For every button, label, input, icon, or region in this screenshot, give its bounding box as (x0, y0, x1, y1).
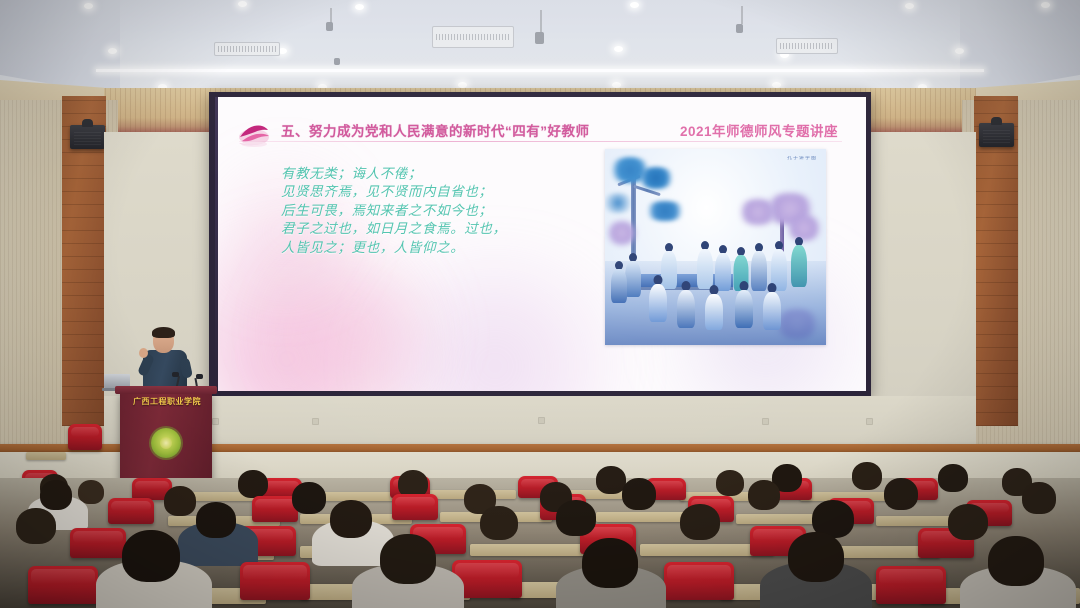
painting-figure (649, 275, 667, 321)
slide-header-divider (239, 141, 842, 142)
audience-head (164, 486, 196, 516)
painting-blossom (736, 199, 780, 225)
slide-section-title: 五、努力成为党和人民满意的新时代“四有”好教师 (281, 120, 590, 140)
audience-head (330, 500, 372, 538)
painting-figure (735, 281, 753, 327)
auditorium-seat (70, 528, 126, 558)
audience-head (680, 504, 720, 540)
poem-line: 后生可畏，焉知来者之不如今也； (281, 202, 591, 220)
painting-figure (625, 253, 641, 297)
audience-head (938, 464, 968, 492)
painting-figure (763, 283, 781, 329)
wall-outlet (312, 418, 319, 425)
lectern-top-rail (115, 386, 217, 394)
ceiling-downlight (355, 4, 364, 10)
ceiling-sensor (736, 24, 743, 33)
microphone-head (172, 372, 179, 377)
painting-figure (677, 281, 695, 327)
poem-line: 人皆见之；更也，人皆仰之。 (281, 239, 591, 257)
presenter-hair (152, 327, 175, 338)
ceiling-downlight (614, 46, 623, 52)
ceiling-downlight (1041, 2, 1050, 8)
air-vent (776, 38, 838, 54)
slide-poem-block: 有教无类；诲人不倦； 见贤思齐焉，见不贤而内自省也； 后生可畏，焉知来者之不如今… (281, 165, 591, 257)
audience-head (480, 506, 518, 540)
audience-head (196, 502, 236, 538)
ceiling-downlight (84, 3, 93, 9)
ceiling-sensor (326, 22, 333, 31)
wall-outlet (866, 418, 873, 425)
ceiling-downlight (238, 1, 247, 7)
party-ribbon-emblem (237, 117, 271, 147)
lectern-nameplate: 广西工程职业学院 (124, 395, 210, 408)
painting-figure (611, 261, 627, 303)
painting-foliage (635, 167, 677, 189)
audience-head (1022, 482, 1056, 514)
ceiling-downlight (108, 48, 117, 54)
wall-outlet (212, 418, 219, 425)
ceiling-mount-rod (540, 10, 542, 32)
stage-side-chair (68, 424, 102, 450)
wall-speaker-left (70, 125, 105, 149)
painting-figure (791, 237, 807, 287)
audience-head (748, 480, 780, 510)
ceiling-sensor (535, 32, 544, 44)
audience-head (380, 534, 436, 584)
slide-topic-label: 2021年师德师风专题讲座 (680, 120, 838, 140)
college-seal-emblem (151, 428, 181, 458)
audience-head (988, 536, 1044, 586)
audience-head (788, 532, 844, 582)
auditorium-seat (108, 498, 154, 524)
screen-edge-shadow (215, 97, 218, 391)
led-display-wall[interactable]: 五、努力成为党和人民满意的新时代“四有”好教师 2021年师德师风专题讲座 有教… (209, 92, 871, 397)
confucius-teaching-painting: 孔子讲学图 (605, 149, 826, 345)
auditorium-seat (240, 562, 310, 600)
lecture-hall-photo: 五、努力成为党和人民满意的新时代“四有”好教师 2021年师德师风专题讲座 有教… (0, 0, 1080, 608)
poem-line: 有教无类；诲人不倦； (281, 165, 591, 183)
ceiling-sensor (334, 58, 340, 65)
air-vent (214, 42, 280, 56)
auditorium-seat (876, 566, 946, 604)
audience-head (40, 480, 72, 510)
painting-figure (705, 285, 723, 329)
ceiling-mount-rod (741, 6, 743, 24)
auditorium-seat (664, 562, 734, 600)
wall-outlet (762, 418, 769, 425)
poem-line: 见贤思齐焉，见不贤而内自省也； (281, 183, 591, 201)
ceiling-downlight (955, 48, 964, 54)
air-vent (432, 26, 514, 48)
audience-head (292, 482, 326, 514)
audience-head (582, 538, 638, 588)
painting-blossom (605, 221, 639, 245)
painting-inscription: 孔子讲学图 (735, 156, 817, 172)
painting-figure (697, 241, 713, 289)
slide-surface: 五、努力成为党和人民满意的新时代“四有”好教师 2021年师德师风专题讲座 有教… (215, 97, 866, 391)
audience-head (16, 508, 56, 544)
poem-line: 君子之过也，如日月之食焉。过也， (281, 220, 591, 238)
audience-head (556, 500, 596, 536)
microphone-head (196, 374, 203, 379)
presenter-hand (139, 348, 148, 358)
lectern: 广西工程职业学院 (120, 392, 212, 484)
ceiling-downlight (905, 3, 914, 9)
audience-head (622, 478, 656, 510)
audience-head (884, 478, 918, 510)
audience-head (238, 470, 268, 498)
painting-foliage (643, 201, 687, 221)
audience-head (716, 470, 744, 496)
stage-side-table (26, 452, 66, 460)
audience-head (948, 504, 988, 540)
audience-head (852, 462, 882, 490)
audience-head (122, 530, 180, 582)
wall-outlet (538, 417, 545, 424)
auditorium-seat (392, 494, 438, 520)
wall-speaker-right (979, 123, 1014, 147)
cove-light-strip (96, 69, 984, 72)
ceiling-downlight (630, 2, 639, 8)
auditorium-seat (28, 566, 98, 604)
